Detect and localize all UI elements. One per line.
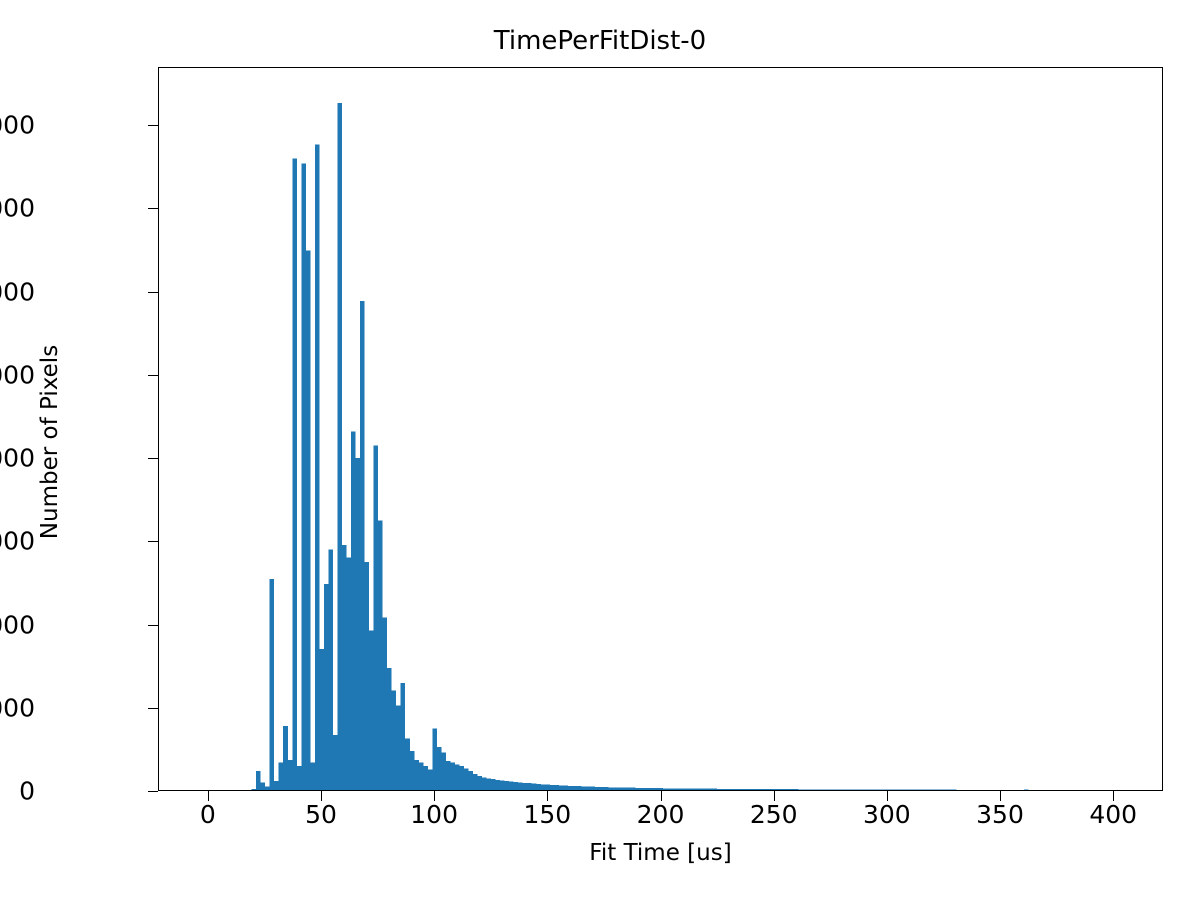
- x-tick-label: 0: [200, 800, 216, 829]
- chart-title: TimePerFitDist-0: [0, 26, 1200, 56]
- y-tick-mark: [148, 625, 158, 626]
- histogram-figure: TimePerFitDist-0 01000200030004000500060…: [0, 0, 1200, 900]
- y-axis-label: Number of Pixels: [37, 242, 63, 642]
- x-tick-mark: [887, 791, 888, 801]
- y-tick-mark: [148, 458, 158, 459]
- x-tick-mark: [661, 791, 662, 801]
- histogram-bars-canvas: [159, 68, 1162, 790]
- x-tick-label: 50: [305, 800, 337, 829]
- y-tick-label: 5000: [0, 360, 35, 389]
- x-tick-mark: [547, 791, 548, 801]
- x-tick-mark: [1000, 791, 1001, 801]
- y-tick-mark: [148, 708, 158, 709]
- x-tick-label: 150: [523, 800, 571, 829]
- x-axis-label: Fit Time [us]: [158, 840, 1163, 866]
- y-tick-mark: [148, 375, 158, 376]
- y-tick-mark: [148, 541, 158, 542]
- x-tick-label: 350: [976, 800, 1024, 829]
- y-tick-label: 3000: [0, 527, 35, 556]
- x-tick-mark: [321, 791, 322, 801]
- x-tick-mark: [434, 791, 435, 801]
- y-tick-label: 4000: [0, 444, 35, 473]
- y-tick-mark: [148, 292, 158, 293]
- histogram-bar-series: [252, 103, 1038, 790]
- y-tick-mark: [148, 208, 158, 209]
- x-tick-mark: [208, 791, 209, 801]
- y-tick-label: 2000: [0, 610, 35, 639]
- x-tick-label: 200: [637, 800, 685, 829]
- plot-axes-frame: [158, 67, 1163, 791]
- x-tick-mark: [774, 791, 775, 801]
- y-tick-label: 0: [0, 777, 35, 806]
- y-tick-label: 8000: [0, 111, 35, 140]
- y-tick-label: 7000: [0, 194, 35, 223]
- y-tick-mark: [148, 791, 158, 792]
- x-tick-label: 300: [863, 800, 911, 829]
- y-tick-mark: [148, 125, 158, 126]
- x-tick-label: 400: [1089, 800, 1137, 829]
- x-tick-label: 100: [410, 800, 458, 829]
- x-tick-mark: [1113, 791, 1114, 801]
- y-tick-label: 6000: [0, 277, 35, 306]
- x-tick-label: 250: [750, 800, 798, 829]
- y-tick-label: 1000: [0, 693, 35, 722]
